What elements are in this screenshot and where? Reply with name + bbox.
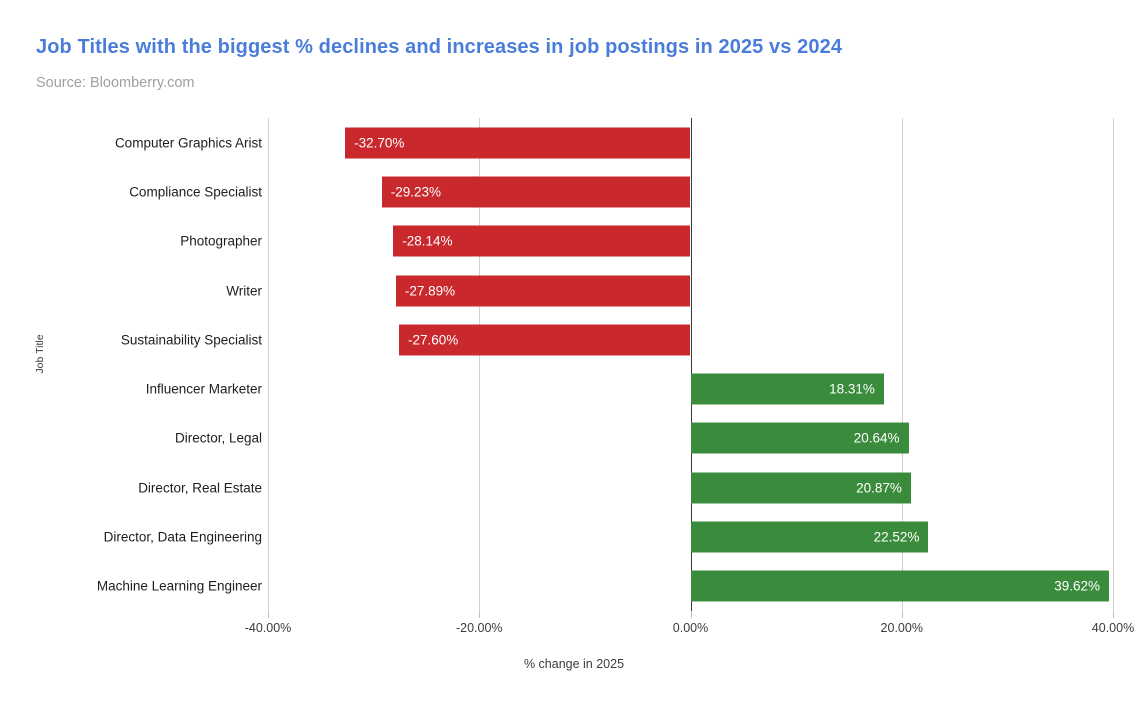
x-axis-tick-label: 0.00% [673, 621, 708, 635]
x-axis-tick-mark [902, 611, 903, 618]
x-axis-tick-label: -40.00% [245, 621, 292, 635]
x-axis-title: % change in 2025 [0, 657, 1148, 671]
x-axis-tick-label: -20.00% [456, 621, 503, 635]
x-axis-tick-label: 20.00% [881, 621, 923, 635]
x-axis-tick-mark [1113, 611, 1114, 618]
x-axis-tick-mark [268, 611, 269, 618]
x-axis-tick-mark [691, 611, 692, 618]
x-axis-tick-mark [479, 611, 480, 618]
x-axis-tick-label: 40.00% [1092, 621, 1134, 635]
x-axis: -40.00%-20.00%0.00%20.00%40.00% [0, 0, 1148, 710]
